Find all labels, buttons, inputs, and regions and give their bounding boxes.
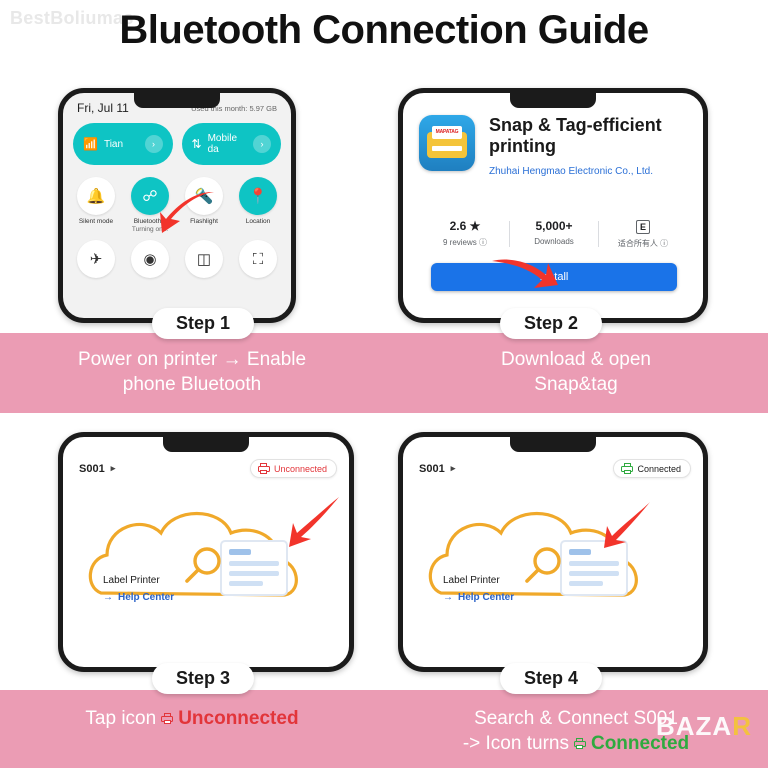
stat-label: 适合所有人 ⓘ	[599, 238, 687, 249]
connection-status-badge-connected[interactable]: Connected	[613, 459, 691, 478]
caption-step3: Tap icon Unconnected	[0, 690, 384, 768]
mobile-data-label: Mobile da	[208, 133, 247, 155]
app-text-block: Snap & Tag-efficient printing Zhuhai Hen…	[489, 115, 689, 178]
mobile-data-icon: ⇅	[192, 137, 202, 151]
auto-rotate-icon[interactable]: ◉	[131, 240, 169, 278]
stat-label: Downloads	[510, 237, 598, 246]
tile-airplane-mode[interactable]: ✈	[73, 240, 119, 278]
tile-label: Silent mode	[79, 218, 113, 226]
chevron-right-icon[interactable]: ›	[253, 135, 271, 153]
pointer-arrow-step2	[490, 255, 562, 301]
step-chip-1: Step 1	[152, 308, 254, 339]
app-icon-slot	[432, 146, 462, 151]
step-chip-3: Step 3	[152, 663, 254, 694]
airplane-icon[interactable]: ✈	[77, 240, 115, 278]
device-selector[interactable]: S001 ▸	[419, 463, 455, 475]
help-card[interactable]: Label Printer → Help Center	[443, 575, 514, 603]
caption-step3-prefix: Tap icon	[85, 706, 156, 731]
caption-step2-line2: Snap&tag	[501, 372, 651, 397]
wifi-pill[interactable]: 📶 Tian ›	[73, 123, 173, 165]
bell-icon[interactable]: 🔔	[77, 177, 115, 215]
app-name: Snap & Tag-efficient printing	[489, 115, 689, 157]
chevron-right-icon[interactable]: ›	[145, 135, 163, 153]
status-label: Unconnected	[274, 464, 327, 474]
app-header: MAPATAG Snap & Tag-efficient printing Zh…	[419, 115, 689, 178]
phone-notch	[163, 437, 249, 452]
chevron-right-icon: ▸	[111, 463, 116, 474]
pointer-arrow-step1	[150, 188, 220, 238]
app-icon: MAPATAG	[419, 115, 475, 171]
step-chip-2: Step 2	[500, 308, 602, 339]
phone-screenshot-step4: S001 ▸ Connected Label Printer → Help Ce…	[398, 432, 708, 672]
help-center-label: Help Center	[118, 592, 174, 603]
tile-location[interactable]: 📍 Location	[235, 177, 281, 234]
tile-label: Location	[246, 218, 271, 226]
stat-label[interactable]: 9 reviews ⓘ	[421, 237, 509, 248]
stat-rating-age: E 适合所有人 ⓘ	[599, 219, 687, 249]
esrb-icon: E	[636, 220, 650, 234]
caption-step3-status: Unconnected	[178, 706, 298, 731]
caption-step2-line1: Download & open	[501, 347, 651, 372]
caption-step4-prefix: -> Icon turns	[463, 731, 569, 756]
help-center-label: Help Center	[458, 592, 514, 603]
caption-step2: Download & open Snap&tag	[384, 333, 768, 413]
caption-step1-line2: phone Bluetooth	[78, 372, 306, 397]
chevron-right-icon: ▸	[451, 463, 456, 474]
mobile-data-pill[interactable]: ⇅ Mobile da ›	[182, 123, 282, 165]
help-card[interactable]: Label Printer → Help Center	[103, 575, 174, 603]
help-center-link[interactable]: → Help Center	[443, 592, 514, 603]
status-label: Connected	[637, 464, 681, 474]
app-icon-paper: MAPATAG	[432, 126, 462, 139]
caption-band-row1: Power on printer → Enable phone Bluetoot…	[0, 333, 768, 413]
tile-silent-mode[interactable]: 🔔 Silent mode	[73, 177, 119, 234]
phone-notch	[510, 93, 596, 108]
device-name: S001	[79, 463, 105, 475]
card-title: Label Printer	[443, 575, 514, 586]
caption-band-row2: Tap icon Unconnected Search & Connect S0…	[0, 690, 768, 768]
split-screen-icon[interactable]: ◫	[185, 240, 223, 278]
connection-status-badge-unconnected[interactable]: Unconnected	[250, 459, 337, 478]
date-label: Fri, Jul 11	[77, 101, 129, 115]
pointer-arrow-step3	[285, 495, 347, 551]
wifi-label: Tian	[104, 139, 139, 150]
app-top-bar: S001 ▸ Connected	[419, 459, 691, 478]
stat-value: 2.6 ★	[421, 219, 509, 233]
wifi-icon: 📶	[83, 137, 98, 151]
watermark-bazar: BAZAR	[656, 711, 752, 742]
content-rating-badge: E	[599, 219, 687, 234]
phone-screenshot-step3: S001 ▸ Unconnected Label Printer → Help …	[58, 432, 354, 672]
quick-settings-pills: 📶 Tian › ⇅ Mobile da ›	[73, 123, 281, 165]
tile-auto-rotate[interactable]: ◉	[127, 240, 173, 278]
step-chip-4: Step 4	[500, 663, 602, 694]
device-selector[interactable]: S001 ▸	[79, 463, 115, 475]
page-title: Bluetooth Connection Guide	[0, 8, 768, 53]
pointer-arrow-step4	[600, 500, 658, 552]
arrow-right-icon: →	[443, 592, 453, 603]
card-title: Label Printer	[103, 575, 174, 586]
location-icon[interactable]: 📍	[239, 177, 277, 215]
printer-icon	[258, 463, 270, 474]
printer-icon	[574, 738, 586, 749]
screenshot-icon[interactable]: ⛶	[239, 240, 277, 278]
printer-icon	[621, 463, 633, 474]
phone-notch	[134, 93, 220, 108]
tile-split-screen[interactable]: ◫	[181, 240, 227, 278]
arrow-right-icon: →	[103, 592, 113, 603]
stat-value: 5,000+	[510, 219, 598, 233]
phone-notch	[510, 437, 596, 452]
app-developer[interactable]: Zhuhai Hengmao Electronic Co., Ltd.	[489, 165, 689, 178]
quick-settings-row-2: ✈ ◉ ◫ ⛶	[73, 240, 281, 278]
app-top-bar: S001 ▸ Unconnected	[79, 459, 337, 478]
device-name: S001	[419, 463, 445, 475]
stat-downloads: 5,000+ Downloads	[510, 219, 598, 246]
help-center-link[interactable]: → Help Center	[103, 592, 174, 603]
caption-step1: Power on printer → Enable phone Bluetoot…	[0, 333, 384, 413]
app-stats: 2.6 ★ 9 reviews ⓘ 5,000+ Downloads E 适合所…	[421, 219, 687, 249]
printer-icon	[161, 713, 173, 724]
caption-step1-line1: Power on printer → Enable	[78, 347, 306, 372]
stat-rating: 2.6 ★ 9 reviews ⓘ	[421, 219, 509, 248]
tile-screenshot[interactable]: ⛶	[235, 240, 281, 278]
